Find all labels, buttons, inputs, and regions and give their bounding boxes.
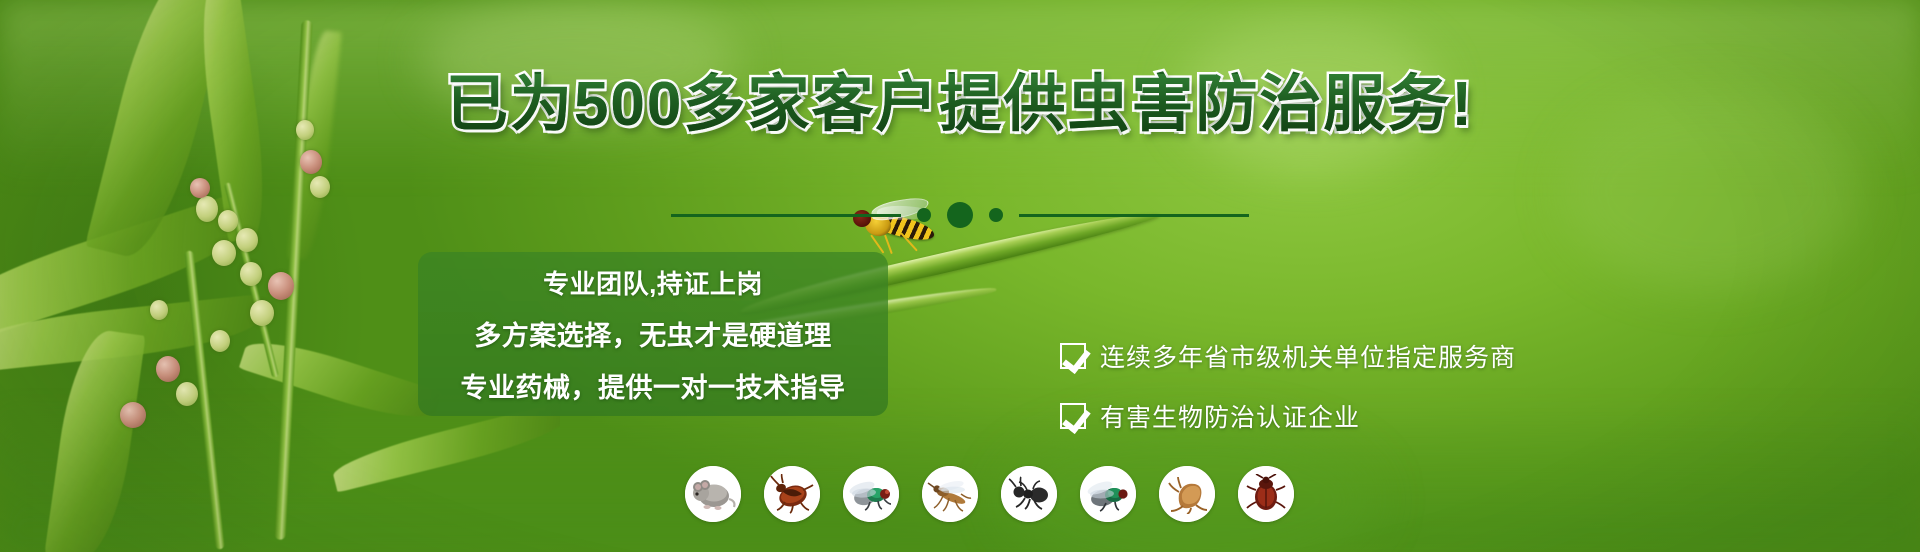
banner-headline-outline: 已为500多家客户提供虫害防治服务! [0,74,1920,136]
seed-bud [150,300,168,320]
flea-icon[interactable] [1159,466,1215,522]
divider-rule-right [1019,214,1249,217]
divider-dot-small-left [917,208,931,222]
seed-bud [240,262,262,286]
seed-bud [176,382,198,406]
selling-points-text: 专业团队,持证上岗 多方案选择，无虫才是硬道理 专业药械，提供一对一技术指导 [418,252,888,416]
seed-bud [120,402,146,428]
selling-point-line-1: 专业团队,持证上岗 [543,264,763,301]
selling-point-line-3: 专业药械，提供一对一技术指导 [461,366,846,405]
housefly-icon[interactable] [843,466,899,522]
seed-bud [210,330,230,352]
seed-bud [190,178,210,198]
credential-label: 有害生物防治认证企业 [1100,398,1360,434]
seed-bud [156,356,180,382]
credential-item: 连续多年省市级机关单位指定服务商 [1060,338,1516,374]
divider-rule-left [671,214,901,217]
credentials-list: 连续多年省市级机关单位指定服务商 有害生物防治认证企业 [1060,338,1516,434]
credential-label: 连续多年省市级机关单位指定服务商 [1100,338,1516,374]
seed-bud [310,176,330,198]
checkbox-check-icon [1060,343,1086,369]
greenbottle-fly-icon[interactable] [1080,466,1136,522]
promo-banner: 已为500多家客户提供虫害防治服务! 已为500多家客户提供虫害防治服务! 专业… [0,0,1920,552]
divider-dot-small-right [989,208,1003,222]
selling-point-line-2: 多方案选择，无虫才是硬道理 [474,314,832,353]
seed-bud [268,272,294,300]
seed-bud [300,150,322,174]
cockroach-icon[interactable] [764,466,820,522]
pest-icon-row [685,466,1294,522]
checkbox-check-icon [1060,403,1086,429]
seed-bud [212,240,236,266]
credential-item: 有害生物防治认证企业 [1060,398,1516,434]
ant-icon[interactable] [1001,466,1057,522]
mosquito-icon[interactable] [922,466,978,522]
decorative-divider [0,202,1920,242]
bedbug-icon[interactable] [1238,466,1294,522]
seed-bud [250,300,274,326]
mouse-icon[interactable] [685,466,741,522]
divider-dot-large [947,202,973,228]
